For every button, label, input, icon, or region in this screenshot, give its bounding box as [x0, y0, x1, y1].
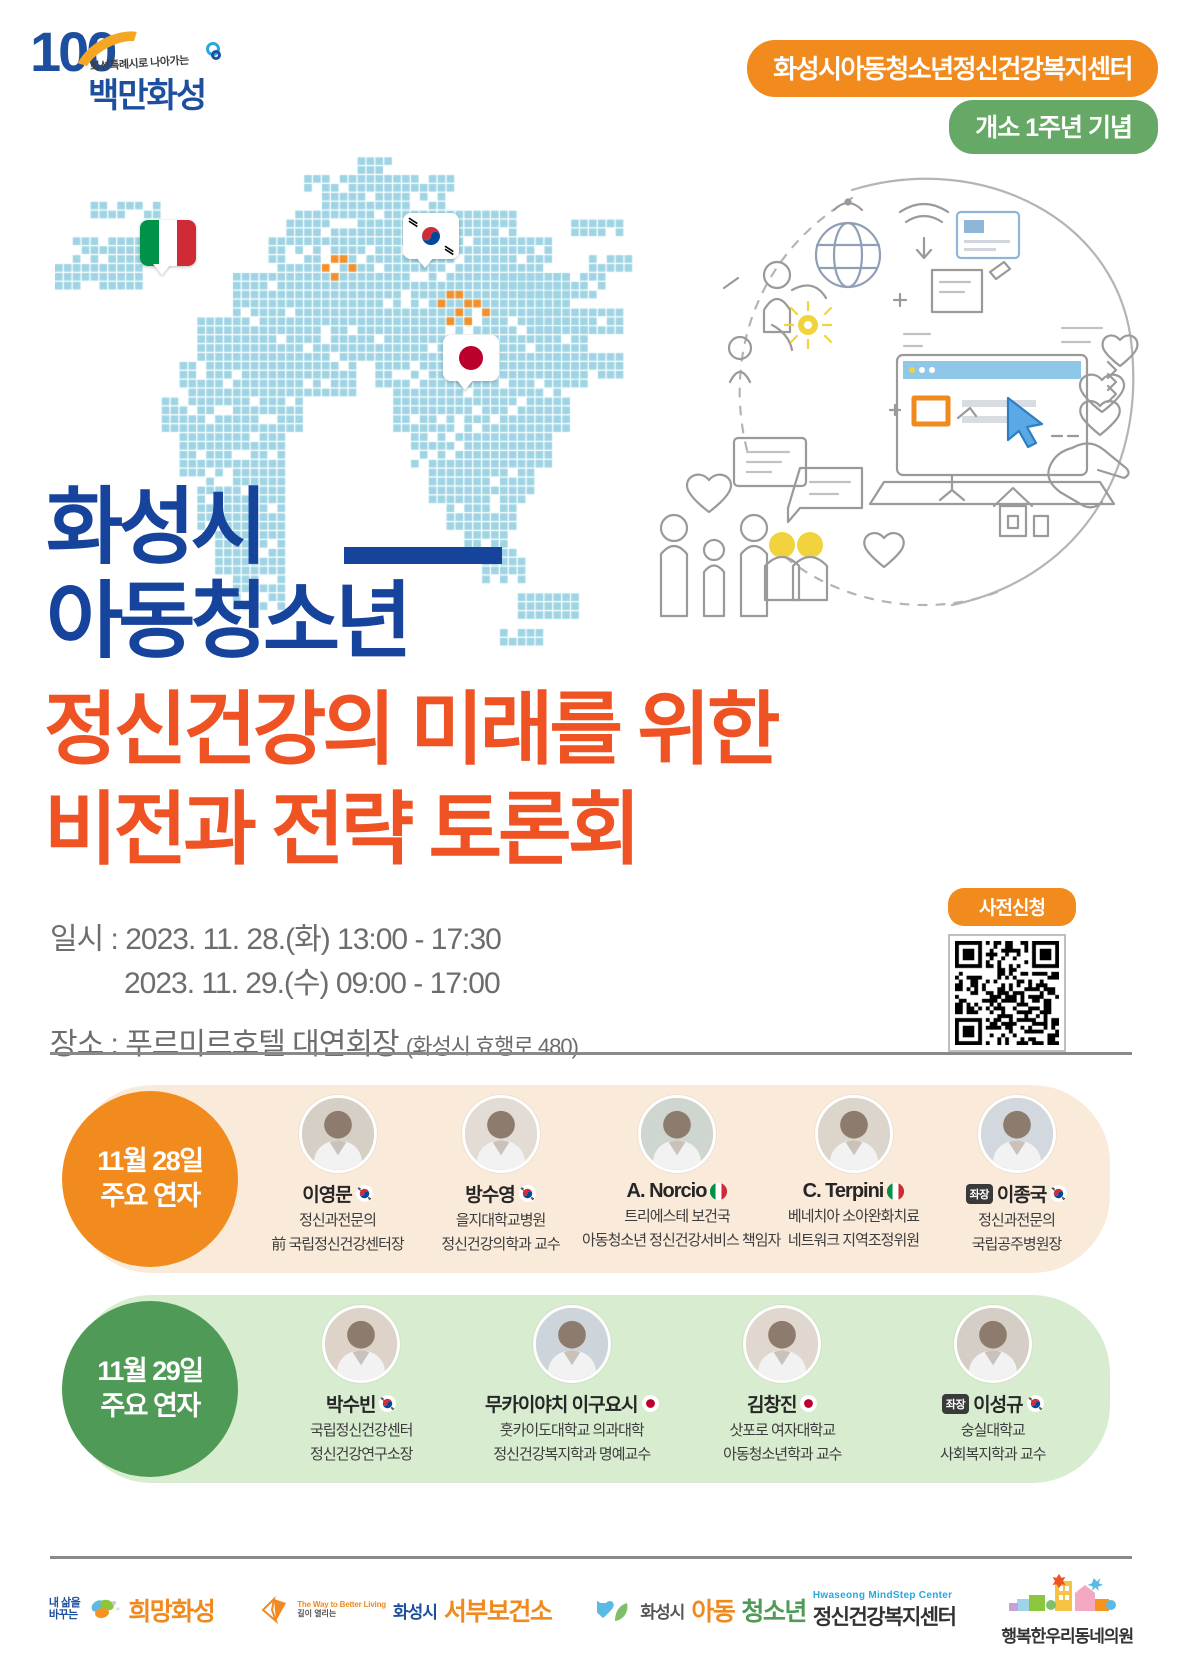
flag-kr-icon: [519, 1185, 536, 1202]
speaker-affiliation-2: 아동청소년 정신건강서비스 책임자: [582, 1231, 772, 1251]
day1-badge: 11월 28일 주요 연자: [62, 1091, 238, 1267]
village-name: 행복한우리동네의원: [1001, 1622, 1133, 1647]
day2-badge: 11월 29일 주요 연자: [62, 1301, 238, 1477]
speaker-name: 이영문: [302, 1180, 351, 1207]
flag-kr-icon: [1027, 1395, 1044, 1412]
speaker-name: 김창진: [747, 1390, 796, 1417]
speaker-name-row: C. Terpini: [772, 1180, 935, 1203]
speaker-name-row: A. Norcio: [582, 1180, 772, 1203]
speaker-photo: [743, 1305, 821, 1383]
footer-logo-village-clinic: 행복한우리동네의원: [1001, 1573, 1133, 1647]
title-underline-rule: [344, 547, 502, 564]
speaker-name: 방수영: [465, 1180, 514, 1207]
title-line2: 아동청소년: [46, 574, 407, 668]
flag-it-icon: [887, 1183, 904, 1200]
center-city: 화성시: [640, 1598, 684, 1623]
speaker-card: 좌장이성규숭실대학교사회복지학과 교수: [898, 1305, 1088, 1466]
speaker-name-row: 무카이야치 이구요시: [477, 1390, 667, 1417]
speaker-affiliation-2: 국립공주병원장: [935, 1235, 1098, 1255]
center-name-badge: 화성시아동청소년정신건강복지센터: [747, 40, 1158, 97]
flag-it-icon: [710, 1183, 727, 1200]
title-line4: 비전과 전략 토론회: [44, 780, 776, 880]
speaker-card: 무카이야치 이구요시훗카이도대학교 의과대학정신건강복지학과 명예교수: [477, 1305, 667, 1466]
day1-speaker-list: 이영문정신과전문의前 국립정신건강센터장방수영을지대학교병원정신건강의학과 교수…: [256, 1095, 1098, 1265]
map-pin-japan: [443, 335, 499, 381]
speaker-card: 김창진삿포로 여자대학교아동청소년학과 교수: [687, 1305, 877, 1466]
speaker-name-row: 방수영: [419, 1180, 582, 1207]
speaker-affiliation-2: 정신건강연구소장: [266, 1445, 456, 1465]
speaker-affiliation-2: 정신건강복지학과 명예교수: [477, 1445, 667, 1465]
day2-panel: 11월 29일 주요 연자 박수빈국립정신건강센터정신건강연구소장무카이야치 이…: [74, 1295, 1110, 1483]
speaker-affiliation-2: 정신건강의학과 교수: [419, 1235, 582, 1255]
map-pin-italy: [140, 220, 196, 266]
day1-panel: 11월 28일 주요 연자 이영문정신과전문의前 국립정신건강센터장방수영을지대…: [74, 1085, 1110, 1273]
speaker-photo: [815, 1095, 893, 1173]
center-english: Hwaseong MindStep Center: [813, 1590, 956, 1601]
footer-logos: 내 삶을 바꾸는 희망화성 The Way to Better Livin: [0, 1556, 1182, 1664]
speaker-card: 좌장이종국정신과전문의국립공주병원장: [935, 1095, 1098, 1256]
qr-badge-label: 사전신청: [948, 888, 1076, 926]
west-ko-top: 길이 열리는: [297, 1610, 386, 1619]
korea-flag-icon: [403, 213, 459, 259]
speaker-name: 이종국: [997, 1180, 1046, 1207]
speaker-affiliation-1: 트리에스테 보건국: [582, 1207, 772, 1227]
speaker-card: A. Norcio트리에스테 보건국아동청소년 정신건강서비스 책임자: [582, 1095, 772, 1252]
speaker-name: 박수빈: [326, 1390, 375, 1417]
page-title-orange: 정신건강의 미래를 위한 비전과 전략 토론회: [44, 680, 776, 880]
hope-main: 희망화성: [128, 1592, 214, 1628]
flag-jp-icon: [642, 1395, 659, 1412]
speaker-affiliation-1: 국립정신건강센터: [266, 1421, 456, 1441]
venue-address: (화성시 효행로 480): [406, 1034, 578, 1059]
speaker-card: 박수빈국립정신건강센터정신건강연구소장: [266, 1305, 456, 1466]
flag-kr-icon: [379, 1395, 396, 1412]
footer-logo-hope-hwaseong: 내 삶을 바꾸는 희망화성: [49, 1592, 214, 1628]
speaker-photo: [322, 1305, 400, 1383]
day2-badge-line2: 주요 연자: [100, 1389, 199, 1424]
speaker-affiliation-1: 숭실대학교: [898, 1421, 1088, 1441]
speaker-card: 이영문정신과전문의前 국립정신건강센터장: [256, 1095, 419, 1256]
village-illustration-icon: [1007, 1573, 1127, 1615]
logo-ring2-icon: [211, 50, 221, 60]
center-main: 정신건강복지센터: [813, 1601, 956, 1631]
mental-health-illustration: [652, 150, 1172, 630]
speaker-affiliation-1: 정신과전문의: [935, 1211, 1098, 1231]
speaker-photo: [638, 1095, 716, 1173]
divider-top: [50, 1052, 1132, 1055]
speaker-affiliation-1: 훗카이도대학교 의과대학: [477, 1421, 667, 1441]
speaker-affiliation-2: 前 국립정신건강센터장: [256, 1235, 419, 1255]
title-line3: 정신건강의 미래를 위한: [44, 680, 776, 780]
day1-badge-line2: 주요 연자: [100, 1179, 199, 1214]
speaker-name-row: 좌장이성규: [898, 1390, 1088, 1417]
day2-speaker-list: 박수빈국립정신건강센터정신건강연구소장무카이야치 이구요시훗카이도대학교 의과대…: [256, 1305, 1098, 1475]
italy-flag-icon: [140, 220, 196, 266]
flower-icon: [87, 1597, 121, 1623]
center-word1: 아동: [691, 1592, 734, 1628]
speaker-card: 방수영을지대학교병원정신건강의학과 교수: [419, 1095, 582, 1256]
speaker-affiliation-1: 정신과전문의: [256, 1211, 419, 1231]
flag-jp-icon: [800, 1395, 817, 1412]
speaker-photo: [978, 1095, 1056, 1173]
speaker-affiliation-2: 아동청소년학과 교수: [687, 1445, 877, 1465]
pre-registration-qr[interactable]: 사전신청: [948, 888, 1076, 1052]
speaker-photo: [299, 1095, 377, 1173]
west-main: 서부보건소: [444, 1592, 552, 1628]
japan-flag-icon: [443, 335, 499, 381]
footer-logo-mindstep-center: 화성시 아동 청소년 Hwaseong MindStep Center 정신건강…: [597, 1590, 955, 1631]
day1-badge-line1: 11월 28일: [97, 1144, 202, 1179]
speaker-name-row: 박수빈: [266, 1390, 456, 1417]
speaker-name: 무카이야치 이구요시: [485, 1390, 638, 1417]
speaker-name: A. Norcio: [627, 1180, 707, 1203]
title-line1: 화성시: [46, 480, 263, 574]
day2-badge-line1: 11월 29일: [97, 1354, 202, 1389]
center-word2: 청소년: [741, 1592, 806, 1628]
speaker-card: C. Terpini베네치아 소아완화치료네트워크 지역조정위원: [772, 1095, 935, 1252]
speaker-photo: [533, 1305, 611, 1383]
poster-root: 100 화성특례시로 나아가는 백만화성 화성시아동청소년정신건강복지센터 개소…: [0, 0, 1182, 1664]
venue-name: 장소 : 푸르미르호텔 대연회장: [50, 1028, 399, 1061]
qr-code-image[interactable]: [948, 934, 1066, 1052]
west-city: 화성시: [393, 1598, 437, 1623]
chair-tag: 좌장: [942, 1394, 969, 1414]
speaker-photo: [462, 1095, 540, 1173]
speaker-photo: [954, 1305, 1032, 1383]
hope-small2: 바꾸는: [49, 1610, 80, 1622]
flag-kr-icon: [1050, 1185, 1067, 1202]
speaker-affiliation-1: 삿포로 여자대학교: [687, 1421, 877, 1441]
anniversary-badge: 개소 1주년 기념: [949, 100, 1158, 154]
event-date-line2: 2023. 11. 29.(수) 09:00 - 17:00: [50, 962, 578, 1006]
flag-kr-icon: [356, 1185, 373, 1202]
speaker-affiliation-1: 베네치아 소아완화치료: [772, 1207, 935, 1227]
speaker-name-row: 이영문: [256, 1180, 419, 1207]
event-info-block: 일시 : 2023. 11. 28.(화) 13:00 - 17:30 2023…: [50, 918, 578, 1063]
speaker-name: C. Terpini: [803, 1180, 884, 1203]
speaker-affiliation-2: 네트워크 지역조정위원: [772, 1231, 935, 1251]
event-venue: 장소 : 푸르미르호텔 대연회장 (화성시 효행로 480): [50, 1019, 578, 1063]
map-pin-korea: [403, 213, 459, 259]
speaker-affiliation-2: 사회복지학과 교수: [898, 1445, 1088, 1465]
chair-tag: 좌장: [966, 1184, 993, 1204]
speaker-name-row: 좌장이종국: [935, 1180, 1098, 1207]
star-burst-icon: [260, 1595, 290, 1625]
page-title-blue: 화성시 아동청소년: [46, 480, 407, 668]
speaker-affiliation-1: 을지대학교병원: [419, 1211, 582, 1231]
footer-logo-west-health-center: The Way to Better Living 길이 열리는 화성시 서부보건…: [260, 1592, 551, 1628]
event-date-line1: 일시 : 2023. 11. 28.(화) 13:00 - 17:30: [50, 918, 578, 962]
heart-leaf-icon: [597, 1597, 633, 1623]
speaker-name-row: 김창진: [687, 1390, 877, 1417]
speaker-name: 이성규: [973, 1390, 1022, 1417]
